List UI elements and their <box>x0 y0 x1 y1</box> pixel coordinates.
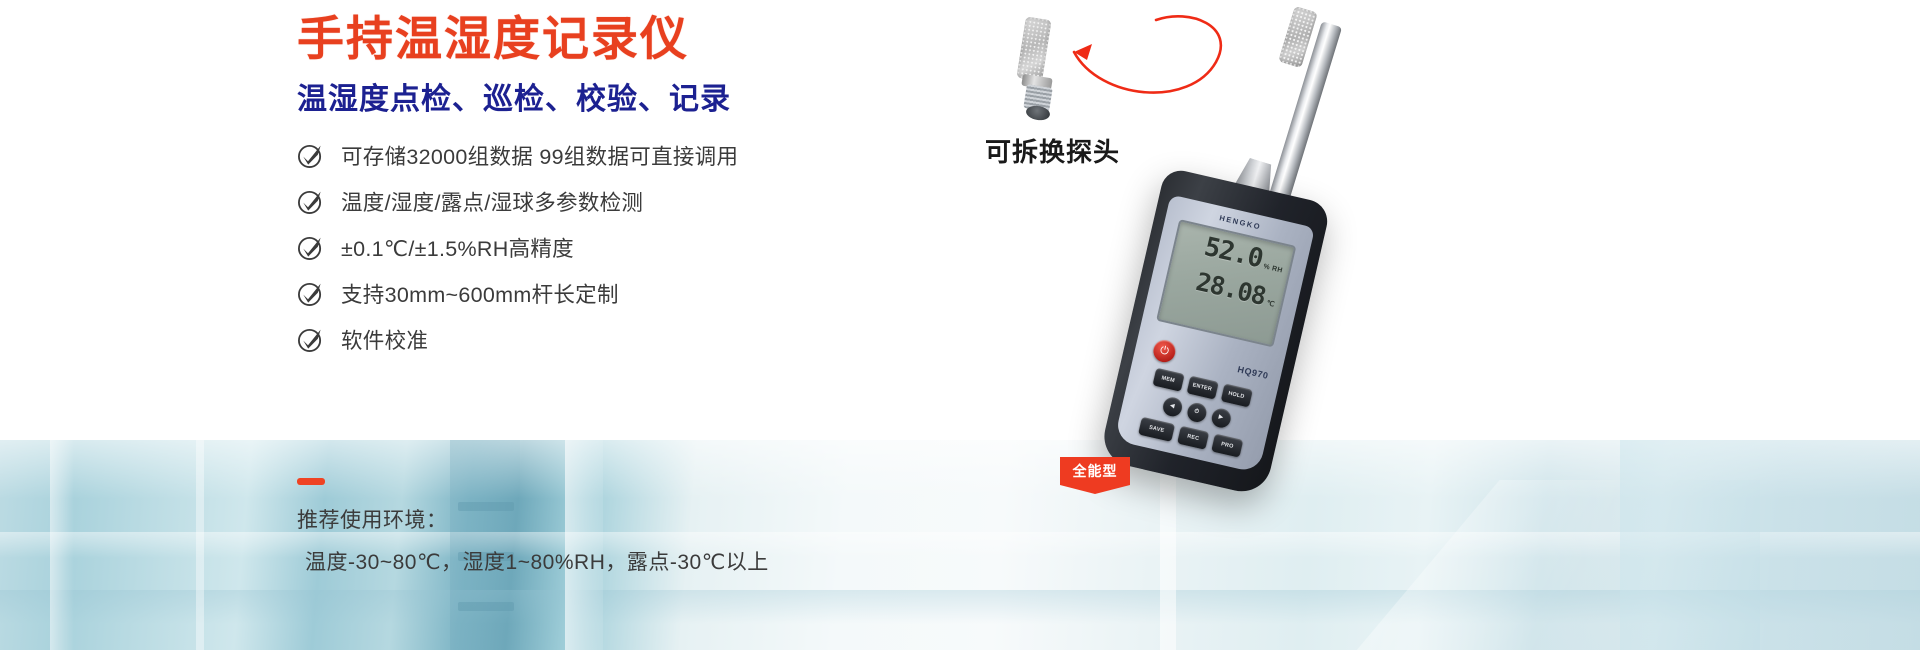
feature-text: 可存储32000组数据 99组数据可直接调用 <box>341 140 738 171</box>
banner-title: 手持温湿度记录仪 <box>297 14 1057 65</box>
status-badge: 全能型 <box>1060 457 1130 485</box>
key-timer[interactable]: ⏱ <box>1185 401 1208 424</box>
check-circle-icon <box>297 326 324 353</box>
check-circle-icon <box>297 188 324 215</box>
red-dash-divider <box>297 478 325 485</box>
key-hold[interactable]: HOLD <box>1220 383 1252 407</box>
key-left[interactable]: ◀ <box>1161 395 1184 418</box>
recommendation-block: 推荐使用环境： 温度-30~80℃，湿度1~80%RH，露点-30℃以上 <box>297 478 1057 576</box>
feature-item: ±0.1℃/±1.5%RH高精度 <box>297 227 1057 268</box>
key-pro[interactable]: PRO <box>1211 434 1243 458</box>
model-label: HQ970 <box>1237 364 1270 381</box>
product-device: HENGKO 52.0 % RH 28.08 ℃ ⏻ HQ970 MEM RE <box>1070 10 1430 650</box>
check-circle-icon <box>297 280 324 307</box>
background-glass-panel <box>1620 440 1920 650</box>
feature-text: 温度/湿度/露点/湿球多参数检测 <box>341 186 643 217</box>
lcd-screen: 52.0 % RH 28.08 ℃ <box>1156 219 1296 347</box>
key-right[interactable]: ▶ <box>1209 407 1232 430</box>
feature-list: 可存储32000组数据 99组数据可直接调用 温度/湿度/露点/湿球多参数检测 <box>297 135 1057 360</box>
key-rec[interactable]: REC <box>1177 426 1209 450</box>
recommendation-heading: 推荐使用环境： <box>297 504 1057 534</box>
device-body: HENGKO 52.0 % RH 28.08 ℃ ⏻ HQ970 MEM RE <box>1098 167 1331 498</box>
feature-item: 支持30mm~600mm杆长定制 <box>297 273 1057 314</box>
device-front-panel: HENGKO 52.0 % RH 28.08 ℃ ⏻ HQ970 MEM RE <box>1114 195 1315 474</box>
product-banner: 手持温湿度记录仪 温湿度点检、巡检、校验、记录 可存储32000组数据 99组数… <box>0 0 1920 650</box>
background-column <box>196 440 204 650</box>
background-rung <box>458 602 514 611</box>
feature-text: ±0.1℃/±1.5%RH高精度 <box>341 232 574 263</box>
key-save[interactable]: SAVE <box>1138 417 1175 442</box>
lcd-humidity-unit: % RH <box>1263 263 1284 274</box>
feature-text: 软件校准 <box>341 324 428 355</box>
lcd-temperature-value: 28.08 <box>1194 269 1268 309</box>
lcd-temperature-unit: ℃ <box>1266 299 1276 309</box>
check-circle-icon <box>297 142 324 169</box>
badge-notch <box>1060 485 1130 494</box>
feature-text: 支持30mm~600mm杆长定制 <box>341 278 619 309</box>
copy-block: 手持温湿度记录仪 温湿度点检、巡检、校验、记录 可存储32000组数据 99组数… <box>297 0 1057 365</box>
key-enter[interactable]: ENTER <box>1186 376 1218 400</box>
recommendation-detail: 温度-30~80℃，湿度1~80%RH，露点-30℃以上 <box>297 546 1057 576</box>
banner-subtitle: 温湿度点检、巡检、校验、记录 <box>297 74 1057 118</box>
power-button[interactable]: ⏻ <box>1151 338 1177 364</box>
background-column <box>50 440 74 650</box>
feature-item: 可存储32000组数据 99组数据可直接调用 <box>297 135 1057 176</box>
keypad: MEM READ ENTER HOLD ◀ ⏱ ▶ SAVE REC PRO <box>1128 365 1265 463</box>
feature-item: 温度/湿度/露点/湿球多参数检测 <box>297 181 1057 222</box>
feature-item: 软件校准 <box>297 319 1057 360</box>
lcd-humidity-value: 52.0 <box>1202 234 1265 273</box>
key-memread[interactable]: MEM READ <box>1152 368 1184 392</box>
check-circle-icon <box>297 234 324 261</box>
